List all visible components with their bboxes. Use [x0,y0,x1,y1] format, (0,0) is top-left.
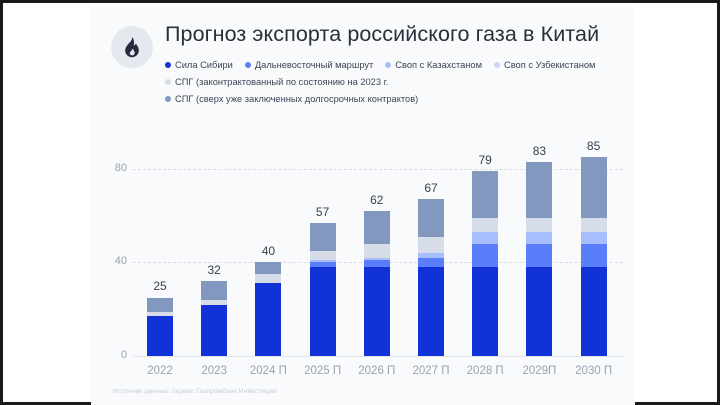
flame-icon [111,26,153,68]
legend-swatch-icon [165,96,171,102]
bar-segment[interactable] [310,267,336,356]
legend-item[interactable]: Своп с Казахстаном [385,60,482,70]
y-axis-tick-label: 40 [101,255,127,267]
bar-value-label: 67 [411,181,451,195]
y-axis-tick-label: 0 [101,349,127,361]
bar-segment[interactable] [418,267,444,356]
bar-segment[interactable] [526,267,552,356]
bar-segment[interactable] [526,162,552,218]
bar-column[interactable] [255,262,281,356]
chart-card: Прогноз экспорта российского газа в Кита… [91,6,635,405]
legend-item-label: Своп с Казахстаном [395,60,482,70]
legend-item[interactable]: СПГ (законтрактованный по состоянию на 2… [165,77,388,87]
legend-item[interactable]: Сила Сибири [165,60,233,70]
x-axis-tick-label: 2030 П [567,365,621,377]
bar-segment[interactable] [526,244,552,267]
bar-segment[interactable] [364,260,390,267]
bar-segment[interactable] [472,267,498,356]
bar-segment[interactable] [310,251,336,260]
x-axis-tick-label: 2026 П [350,365,404,377]
bar-segment[interactable] [147,298,173,312]
bar-segment[interactable] [147,316,173,356]
bar-column[interactable] [364,211,390,356]
bar-segment[interactable] [526,218,552,232]
bar-segment[interactable] [581,244,607,267]
bar-value-label: 57 [303,205,343,219]
legend-row: СПГ (законтрактованный по состоянию на 2… [165,75,625,89]
bar-segment[interactable] [581,267,607,356]
bar-segment[interactable] [472,244,498,267]
bar-segment[interactable] [255,274,281,283]
legend-swatch-icon [494,62,500,68]
page-title: Прогноз экспорта российского газа в Кита… [165,22,599,47]
bar-column[interactable] [201,281,227,356]
bar-segment[interactable] [255,283,281,356]
legend-item-label: Сила Сибири [175,60,233,70]
gridline [133,356,623,357]
bar-segment[interactable] [581,218,607,232]
bar-column[interactable] [310,223,336,356]
bar-segment[interactable] [581,157,607,218]
bar-value-label: 85 [574,139,614,153]
legend-item[interactable]: Своп с Узбекистаном [494,60,595,70]
bar-segment[interactable] [418,258,444,267]
x-axis-tick-label: 2029П [512,365,566,377]
bar-segment[interactable] [418,199,444,236]
x-axis-tick-label: 2028 П [458,365,512,377]
bar-segment[interactable] [310,223,336,251]
source-footnote: Источник данных: сервис Газпромбанк Инве… [113,388,277,395]
bar-column[interactable] [418,199,444,356]
legend-row: Сила СибириДальневосточный маршрутСвоп с… [165,58,625,72]
bar-segment[interactable] [201,305,227,356]
legend-item-label: Своп с Узбекистаном [504,60,595,70]
bar-segment[interactable] [581,232,607,244]
legend-item[interactable]: Дальневосточный маршрут [245,60,373,70]
x-axis-tick-label: 2023 [187,365,241,377]
bar-column[interactable] [147,298,173,357]
bar-column[interactable] [472,171,498,356]
bar-segment[interactable] [364,211,390,244]
legend-item-label: Дальневосточный маршрут [255,60,373,70]
bar-value-label: 83 [519,144,559,158]
x-axis-tick-label: 2022 [133,365,187,377]
x-axis-tick-label: 2025 П [296,365,350,377]
bar-value-label: 62 [357,193,397,207]
legend-swatch-icon [165,62,171,68]
bar-segment[interactable] [472,218,498,232]
bar-segment[interactable] [364,267,390,356]
bar-value-label: 79 [465,153,505,167]
bar-segment[interactable] [364,244,390,258]
x-axis-tick-label: 2024 П [241,365,295,377]
legend-item[interactable]: СПГ (сверх уже заключенных долгосрочных … [165,94,418,104]
chart-plot-area: 04080252022322023402024 П572025 П622026 … [91,114,635,366]
y-axis-tick-label: 80 [101,162,127,174]
bar-segment[interactable] [472,171,498,218]
bar-segment[interactable] [255,262,281,274]
legend-swatch-icon [385,62,391,68]
legend-row: СПГ (сверх уже заключенных долгосрочных … [165,92,625,106]
bar-value-label: 32 [194,263,234,277]
x-axis-tick-label: 2027 П [404,365,458,377]
bar-column[interactable] [581,157,607,356]
bar-value-label: 25 [140,279,180,293]
bar-segment[interactable] [201,281,227,300]
screenshot-frame: Прогноз экспорта российского газа в Кита… [0,0,720,405]
bar-segment[interactable] [418,237,444,253]
bar-value-label: 40 [248,244,288,258]
bar-segment[interactable] [526,232,552,244]
bar-column[interactable] [526,162,552,356]
legend-item-label: СПГ (сверх уже заключенных долгосрочных … [175,94,418,104]
legend-swatch-icon [245,62,251,68]
legend-swatch-icon [165,79,171,85]
legend-item-label: СПГ (законтрактованный по состоянию на 2… [175,77,388,87]
bar-segment[interactable] [472,232,498,244]
chart-legend: Сила СибириДальневосточный маршрутСвоп с… [165,58,625,109]
